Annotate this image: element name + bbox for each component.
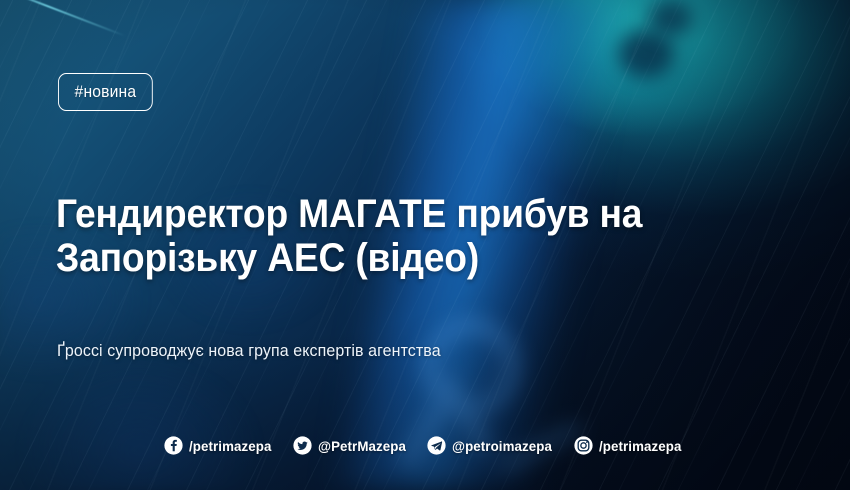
category-badge[interactable]: #новина xyxy=(58,73,153,111)
instagram-icon xyxy=(574,436,593,455)
social-link-telegram[interactable]: @petroimazepa xyxy=(427,436,557,455)
social-link-twitter[interactable]: @PetrMazepa xyxy=(293,436,411,455)
category-badge-label: #новина xyxy=(75,82,137,102)
page-title: Гендиректор МАГАТЕ прибув на Запорізьку … xyxy=(56,192,735,280)
subtitle-text: Ґроссі супроводжує нова група експертів … xyxy=(57,340,715,362)
card-content: #новина Гендиректор МАГАТЕ прибув на Зап… xyxy=(0,0,850,490)
social-handle-instagram: /petrimazepa xyxy=(599,438,681,454)
social-handle-telegram: @petroimazepa xyxy=(452,438,552,454)
news-share-card: #новина Гендиректор МАГАТЕ прибув на Зап… xyxy=(0,0,850,490)
social-links-row: /petrimazepa @PetrMazepa @petroimazepa xyxy=(0,436,850,455)
social-handle-facebook: /petrimazepa xyxy=(189,438,271,454)
facebook-icon xyxy=(164,436,183,455)
telegram-icon xyxy=(427,436,446,455)
social-link-facebook[interactable]: /petrimazepa xyxy=(164,436,276,455)
social-handle-twitter: @PetrMazepa xyxy=(318,438,406,454)
twitter-icon xyxy=(293,436,312,455)
social-link-instagram[interactable]: /petrimazepa xyxy=(574,436,686,455)
